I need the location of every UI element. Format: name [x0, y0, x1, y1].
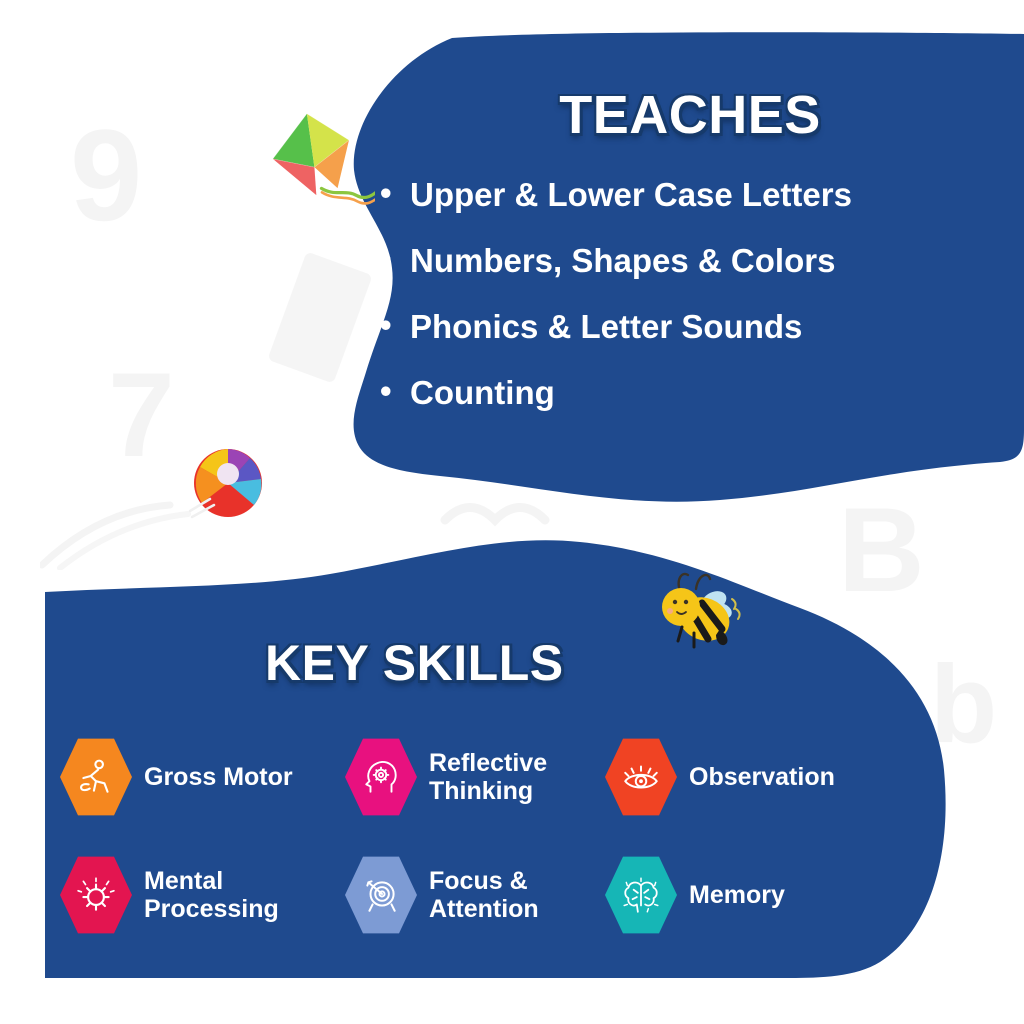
hexagon-shape [60, 737, 132, 817]
skill-reflective-thinking: Reflective Thinking [345, 737, 605, 817]
skill-icon-badge [60, 855, 132, 935]
target-arrow-icon [360, 874, 402, 916]
skill-icon-badge [605, 737, 677, 817]
infographic-canvas: 9 7 B b [0, 0, 1024, 1024]
hexagon-shape [60, 855, 132, 935]
skill-icon-badge [345, 855, 417, 935]
teaches-list-item: Numbers, Shapes & Colors [380, 242, 1000, 280]
skill-label: Mental Processing [144, 867, 279, 923]
eye-icon [620, 756, 662, 798]
hexagon-shape [345, 855, 417, 935]
key-skills-heading: KEY SKILLS [265, 638, 940, 688]
teaches-list-item: Phonics & Letter Sounds [380, 308, 1000, 346]
skill-label: Observation [689, 763, 835, 791]
watermark-block-shape [267, 251, 372, 383]
watermark-digit-nine: 9 [70, 110, 142, 240]
hexagon-shape [605, 737, 677, 817]
gear-icon [75, 874, 117, 916]
brain-icon [620, 874, 662, 916]
hexagon-shape [605, 855, 677, 935]
skill-focus-attention: Focus & Attention [345, 855, 605, 935]
skill-memory: Memory [605, 855, 895, 935]
beach-ball-illustration [188, 443, 268, 523]
skill-label: Reflective Thinking [429, 749, 547, 805]
skill-gross-motor: Gross Motor [60, 737, 345, 817]
watermark-letter-b-lower: b [930, 650, 997, 760]
watermark-letter-b-upper: B [838, 490, 925, 610]
teaches-list-item: Counting [380, 374, 1000, 412]
skill-icon-badge [605, 855, 677, 935]
skill-icon-badge [60, 737, 132, 817]
key-skills-grid: Gross Motor [60, 718, 940, 954]
skill-label: Focus & Attention [429, 867, 539, 923]
kite-illustration [255, 105, 375, 220]
watermark-bird-icon [440, 490, 550, 550]
hexagon-shape [345, 737, 417, 817]
skill-label: Memory [689, 881, 785, 909]
key-skills-section: KEY SKILLS [60, 638, 940, 954]
skill-label: Gross Motor [144, 763, 293, 791]
teaches-list-item: Upper & Lower Case Letters [380, 176, 1000, 214]
teaches-section: TEACHES Upper & Lower Case Letters Numbe… [380, 88, 1000, 440]
skill-icon-badge [345, 737, 417, 817]
running-person-icon [75, 756, 117, 798]
skill-observation: Observation [605, 737, 895, 817]
head-gear-icon [360, 756, 402, 798]
skill-mental-processing: Mental Processing [60, 855, 345, 935]
teaches-list: Upper & Lower Case Letters Numbers, Shap… [380, 176, 1000, 412]
watermark-digit-seven: 7 [108, 355, 175, 475]
teaches-heading: TEACHES [380, 88, 1000, 142]
